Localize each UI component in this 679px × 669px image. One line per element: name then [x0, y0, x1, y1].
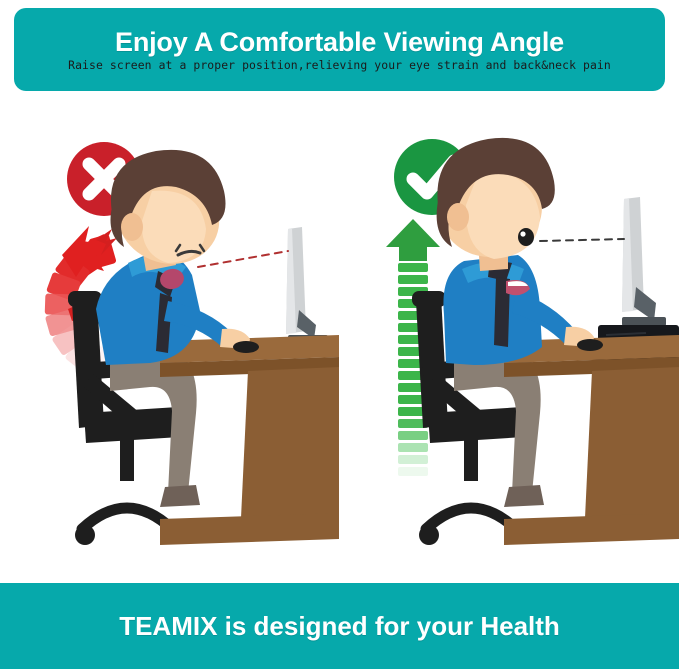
- infographic-root: Enjoy A Comfortable Viewing Angle Raise …: [0, 0, 679, 669]
- monitor-raised: [622, 197, 666, 326]
- monitor-low: [286, 227, 328, 344]
- illustration-stage: [0, 95, 679, 583]
- sight-line-dashed: [198, 251, 288, 267]
- seated-person-good: [437, 138, 603, 365]
- header-banner: Enjoy A Comfortable Viewing Angle Raise …: [14, 8, 665, 91]
- footer-banner: TEAMIX is designed for your Health: [0, 583, 679, 669]
- panel-good-posture: [340, 95, 679, 583]
- panel-bad-posture: [0, 95, 339, 583]
- seated-person-bad: [96, 150, 259, 365]
- page-title: Enjoy A Comfortable Viewing Angle: [115, 28, 564, 56]
- page-subtitle: Raise screen at a proper position,reliev…: [68, 59, 611, 72]
- sight-line-dashed: [540, 239, 624, 241]
- footer-title: TEAMIX is designed for your Health: [119, 611, 560, 642]
